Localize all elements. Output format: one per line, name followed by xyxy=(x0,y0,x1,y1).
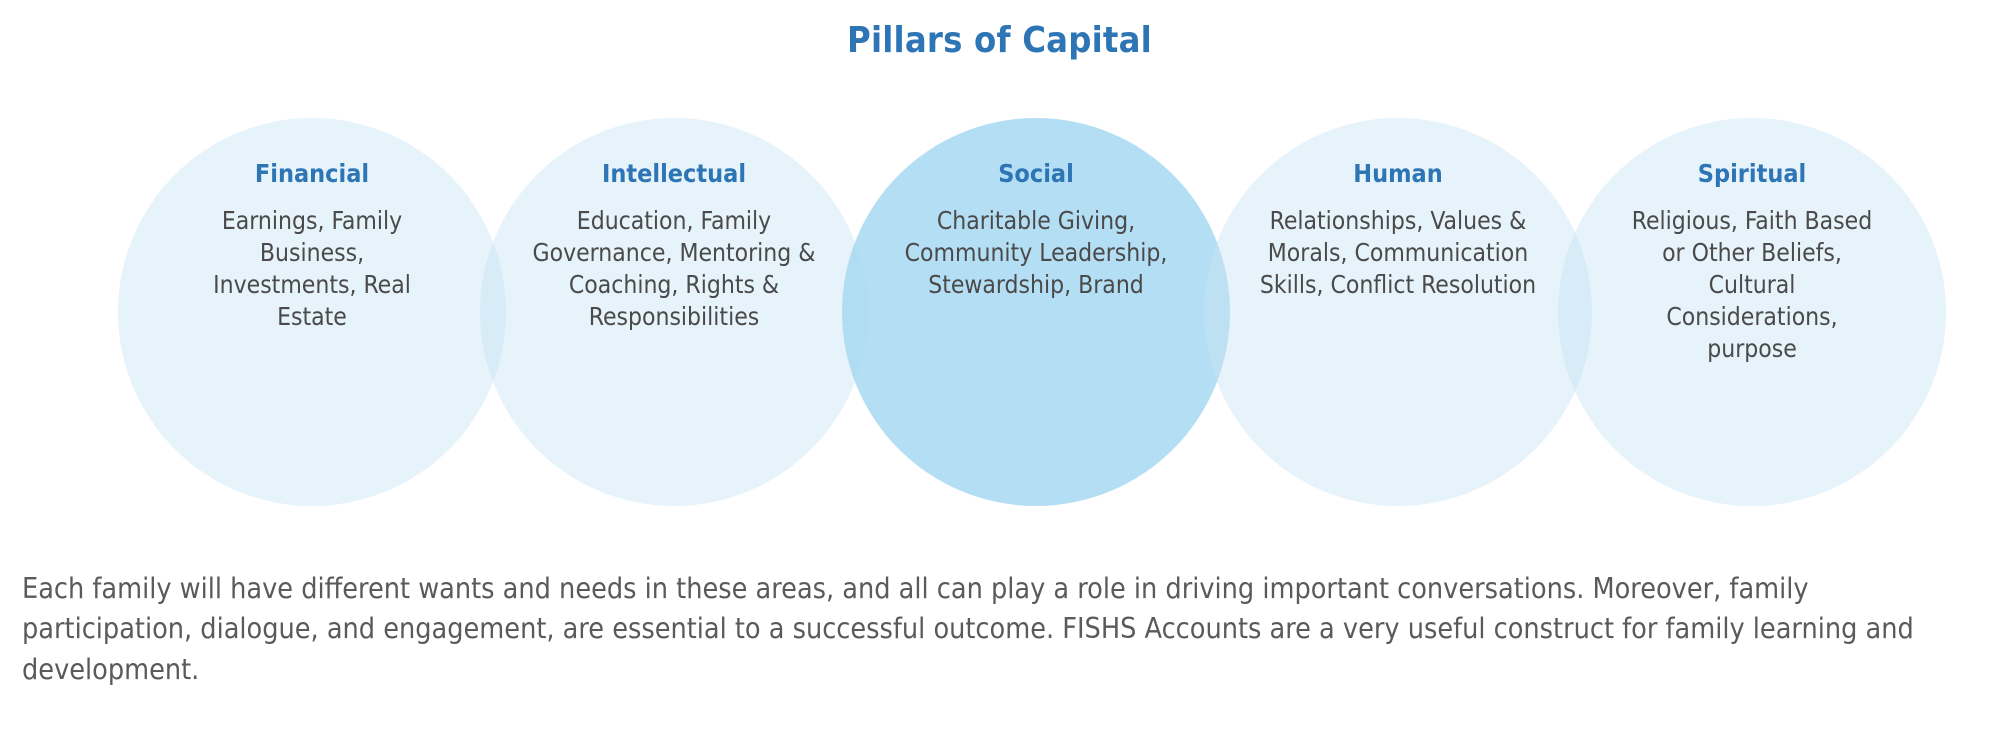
pillar-heading-human: Human xyxy=(1353,160,1442,188)
pillar-item-intellectual[interactable]: Intellectual Education, Family Governanc… xyxy=(480,118,868,506)
pillar-text-intellectual: Education, Family Governance, Mentoring … xyxy=(529,205,819,333)
summary-paragraph: Each family will have different wants an… xyxy=(22,569,1982,690)
pillar-text-human: Relationships, Values & Morals, Communic… xyxy=(1253,205,1543,301)
pillar-item-human[interactable]: Human Relationships, Values & Morals, Co… xyxy=(1204,118,1592,506)
pillar-item-financial[interactable]: Financial Earnings, Family Business, Inv… xyxy=(118,118,506,506)
pillar-text-spiritual: Religious, Faith Based or Other Beliefs,… xyxy=(1628,205,1876,365)
page-title: Pillars of Capital xyxy=(0,20,1999,61)
pillar-heading-intellectual: Intellectual xyxy=(602,160,746,188)
pillar-heading-spiritual: Spiritual xyxy=(1698,160,1806,188)
pillar-text-social: Charitable Giving, Community Leadership,… xyxy=(886,205,1186,301)
pillar-heading-social: Social xyxy=(998,160,1074,188)
pillar-heading-financial: Financial xyxy=(255,160,369,188)
pillar-text-financial: Earnings, Family Business, Investments, … xyxy=(188,205,436,333)
pillars-diagram: Financial Earnings, Family Business, Inv… xyxy=(0,118,1999,510)
pillar-item-social[interactable]: Social Charitable Giving, Community Lead… xyxy=(842,118,1230,506)
pillar-item-spiritual[interactable]: Spiritual Religious, Faith Based or Othe… xyxy=(1558,118,1946,506)
